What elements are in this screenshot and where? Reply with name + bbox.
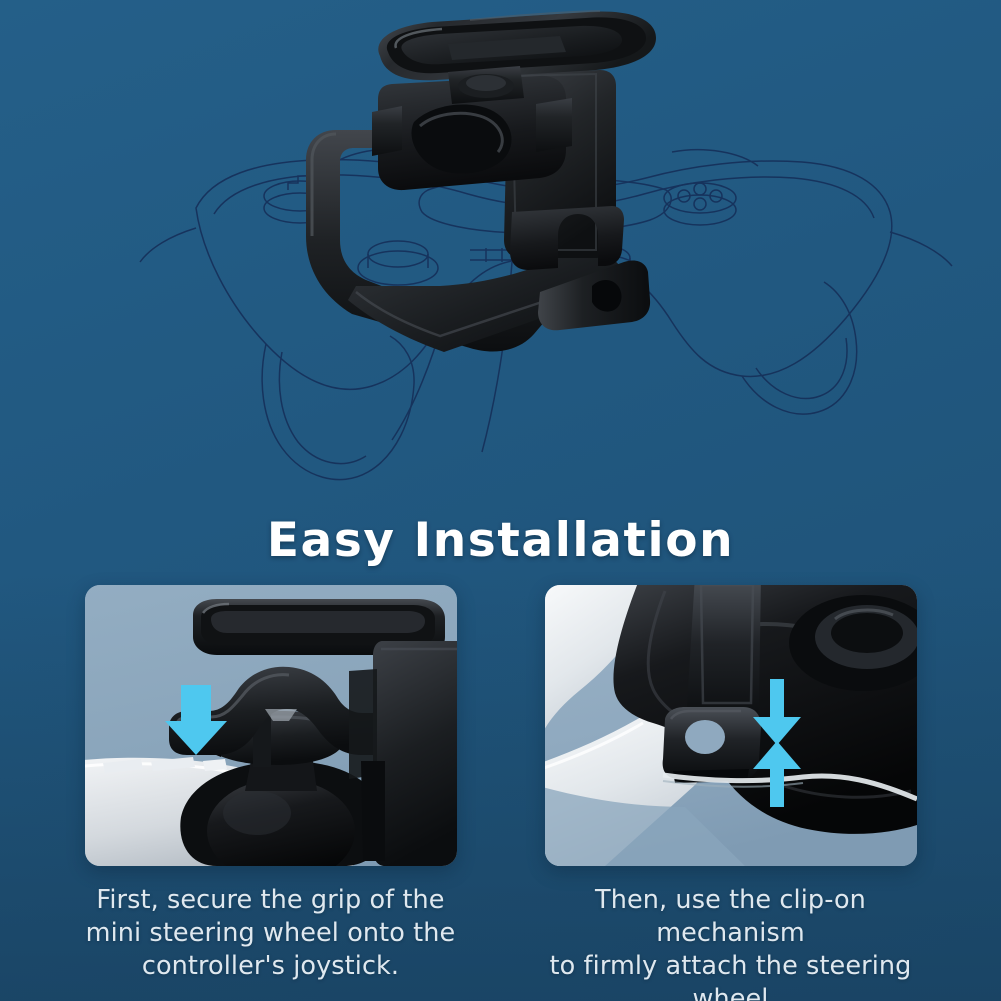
caption-line: controller's joystick. xyxy=(85,950,457,983)
hero-product-image xyxy=(0,0,1001,505)
page-title: Easy Installation xyxy=(0,512,1001,570)
support-column xyxy=(373,641,457,866)
step-1-caption: First, secure the grip of the mini steer… xyxy=(85,884,457,983)
caption-line: mini steering wheel onto the xyxy=(85,917,457,950)
caption-line: Then, use the clip-on mechanism xyxy=(545,884,917,950)
clip-hole xyxy=(685,720,725,754)
clip-on-mechanism-photo xyxy=(545,585,917,866)
caption-line: First, secure the grip of the xyxy=(85,884,457,917)
caption-line: to firmly attach the steering wheel xyxy=(545,950,917,1001)
clip-post xyxy=(687,585,761,727)
grip-onto-joystick-photo xyxy=(85,585,457,866)
step-2-caption: Then, use the clip-on mechanism to firml… xyxy=(545,884,917,1001)
step-1: First, secure the grip of the mini steer… xyxy=(85,585,457,1001)
installation-steps: First, secure the grip of the mini steer… xyxy=(0,585,1001,1001)
mini-steering-wheel-render xyxy=(306,11,656,352)
step-2: Then, use the clip-on mechanism to firml… xyxy=(545,585,917,1001)
product-infographic: Easy Installation xyxy=(0,0,1001,1001)
